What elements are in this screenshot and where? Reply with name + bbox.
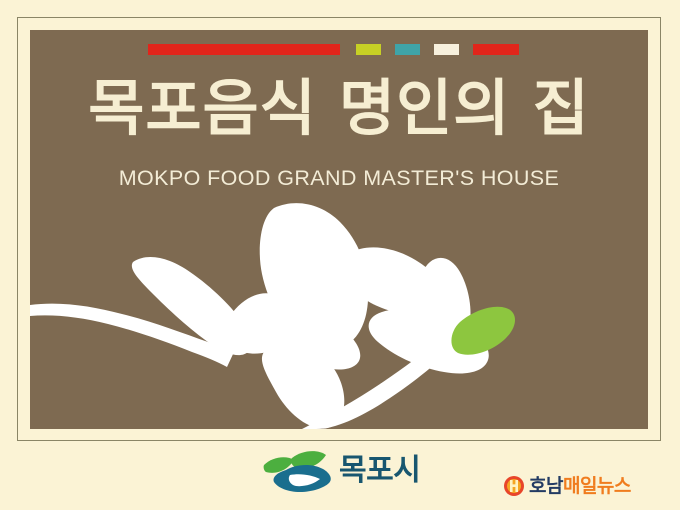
mokpo-city-logo: 목포시 (262, 445, 432, 497)
honam-news-text-dark: 호남 (529, 477, 563, 496)
honam-news-logo: 호남 매일뉴스 (503, 472, 631, 500)
color-strip (148, 44, 519, 55)
honam-news-emblem-icon (503, 475, 525, 497)
mokpo-city-bird-icon (262, 448, 334, 494)
brown-panel: 목포음식 명인의 집 MOKPO FOOD GRAND MASTER'S HOU… (30, 30, 648, 429)
strip-segment-teal (395, 44, 420, 55)
poster-root: 목포음식 명인의 집 MOKPO FOOD GRAND MASTER'S HOU… (0, 0, 680, 510)
strip-segment-yellow-green (356, 44, 381, 55)
strip-segment-cream (434, 44, 459, 55)
honam-news-text-accent: 매일뉴스 (563, 477, 631, 496)
title-english: MOKPO FOOD GRAND MASTER'S HOUSE (30, 166, 648, 191)
magnolia-flower-illustration (30, 200, 648, 429)
mokpo-city-wordmark: 목포시 (339, 456, 420, 486)
strip-segment-red-long (148, 44, 340, 55)
title-korean: 목포음식 명인의 집 (30, 78, 648, 139)
strip-segment-red-short (473, 44, 519, 55)
